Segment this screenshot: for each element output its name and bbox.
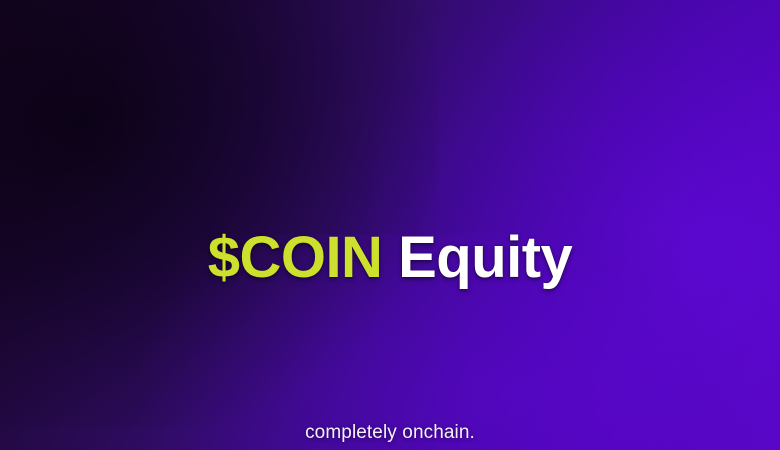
title-word: Equity xyxy=(398,225,572,290)
slide-content: $COIN Equity completely onchain. xyxy=(0,0,780,450)
subtitle: completely onchain. xyxy=(0,422,780,444)
page-title: $COIN Equity xyxy=(0,225,780,292)
title-ticker: $COIN xyxy=(208,225,383,290)
title-separator xyxy=(382,225,398,290)
title-slide: $COIN Equity completely onchain. xyxy=(0,0,780,450)
